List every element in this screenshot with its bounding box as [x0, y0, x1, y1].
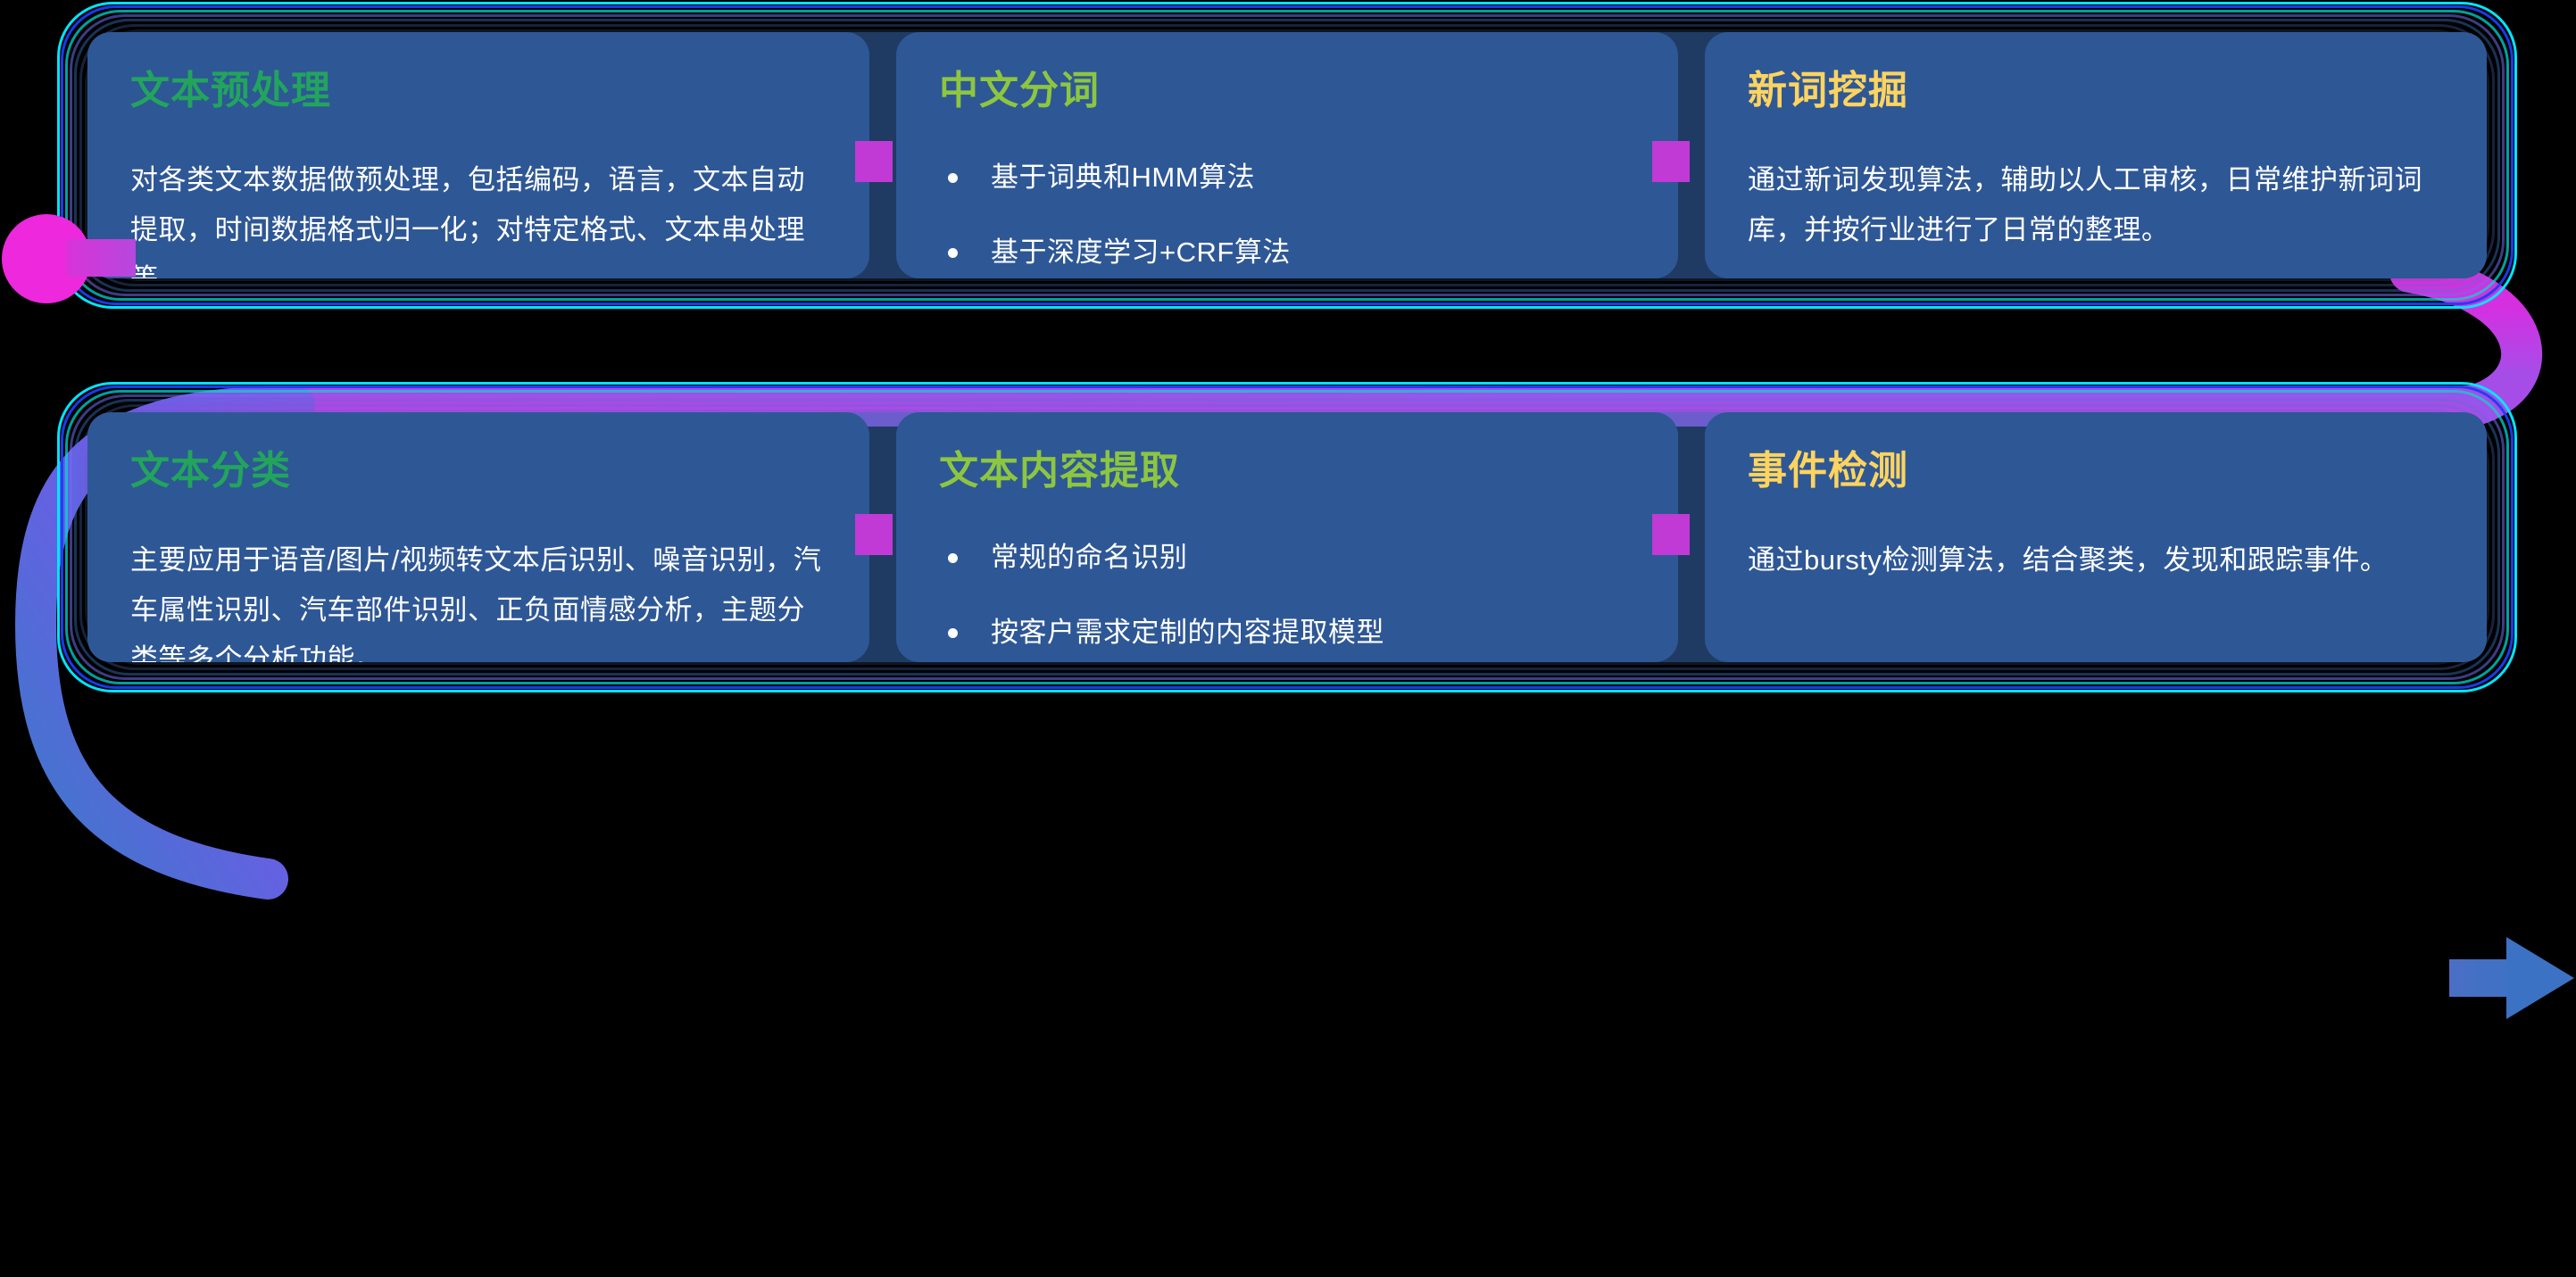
card-body: 主要应用于语音/图片/视频转文本后识别、噪音识别，汽车属性识别、汽车部件识别、正…	[130, 535, 827, 662]
bullet-dot-icon	[948, 553, 958, 563]
card-title: 中文分词	[939, 70, 1635, 112]
list-item: 基于深度学习+CRF算法	[939, 230, 1635, 275]
card-body: 对各类文本数据做预处理，包括编码，语言，文本自动提取，时间数据格式归一化；对特定…	[130, 155, 827, 278]
card-title: 文本分类	[130, 450, 827, 493]
list-item: 基于词典和HMM算法	[939, 155, 1635, 200]
row-1-cards: 文本预处理 对各类文本数据做预处理，包括编码，语言，文本自动提取，时间数据格式归…	[87, 32, 2487, 278]
list-item: 按客户需求定制的内容提取模型	[939, 610, 1635, 655]
card-title: 新词挖掘	[1748, 70, 2444, 112]
flow-start-stem	[66, 239, 136, 277]
card-text-preprocessing[interactable]: 文本预处理 对各类文本数据做预处理，包括编码，语言，文本自动提取，时间数据格式归…	[87, 32, 869, 278]
list-item: 常规的命名识别	[939, 535, 1635, 580]
connector-nub-2	[1652, 141, 1690, 182]
card-bullet-list: 基于词典和HMM算法 基于深度学习+CRF算法 行业专有词典	[939, 155, 1635, 278]
bullet-dot-icon	[948, 628, 958, 638]
card-title: 文本内容提取	[939, 450, 1635, 493]
arrow-right-icon	[2449, 937, 2574, 1019]
card-text-classification[interactable]: 文本分类 主要应用于语音/图片/视频转文本后识别、噪音识别，汽车属性识别、汽车部…	[87, 412, 869, 662]
card-title: 文本预处理	[130, 70, 827, 112]
card-body: 通过bursty检测算法，结合聚类，发现和跟踪事件。	[1748, 535, 2444, 585]
connector-nub-1	[855, 141, 893, 182]
row-1-shell: 文本预处理 对各类文本数据做预处理，包括编码，语言，文本自动提取，时间数据格式归…	[57, 2, 2517, 309]
card-event-detection[interactable]: 事件检测 通过bursty检测算法，结合聚类，发现和跟踪事件。	[1705, 412, 2487, 662]
card-chinese-word-segmentation[interactable]: 中文分词 基于词典和HMM算法 基于深度学习+CRF算法 行业专有词典	[896, 32, 1678, 278]
connector-nub-4	[1652, 514, 1690, 555]
diagram-canvas: 文本预处理 对各类文本数据做预处理，包括编码，语言，文本自动提取，时间数据格式归…	[0, 0, 2576, 1277]
list-item-label: 按客户需求定制的内容提取模型	[991, 617, 1384, 648]
card-bullet-list: 常规的命名识别 按客户需求定制的内容提取模型	[939, 535, 1635, 654]
row-2-cards: 文本分类 主要应用于语音/图片/视频转文本后识别、噪音识别，汽车属性识别、汽车部…	[87, 412, 2487, 662]
list-item-label: 基于词典和HMM算法	[991, 162, 1255, 193]
bullet-dot-icon	[948, 173, 958, 183]
card-title: 事件检测	[1748, 450, 2444, 493]
list-item-label: 基于深度学习+CRF算法	[991, 236, 1291, 268]
row-2-shell: 文本分类 主要应用于语音/图片/视频转文本后识别、噪音识别，汽车属性识别、汽车部…	[57, 382, 2517, 692]
card-body: 通过新词发现算法，辅助以人工审核，日常维护新词词库，并按行业进行了日常的整理。	[1748, 155, 2444, 253]
list-item-label: 常规的命名识别	[991, 542, 1188, 573]
card-text-content-extraction[interactable]: 文本内容提取 常规的命名识别 按客户需求定制的内容提取模型	[896, 412, 1678, 662]
connector-nub-3	[855, 514, 893, 555]
bullet-dot-icon	[948, 248, 958, 258]
card-new-word-discovery[interactable]: 新词挖掘 通过新词发现算法，辅助以人工审核，日常维护新词词库，并按行业进行了日常…	[1705, 32, 2487, 278]
